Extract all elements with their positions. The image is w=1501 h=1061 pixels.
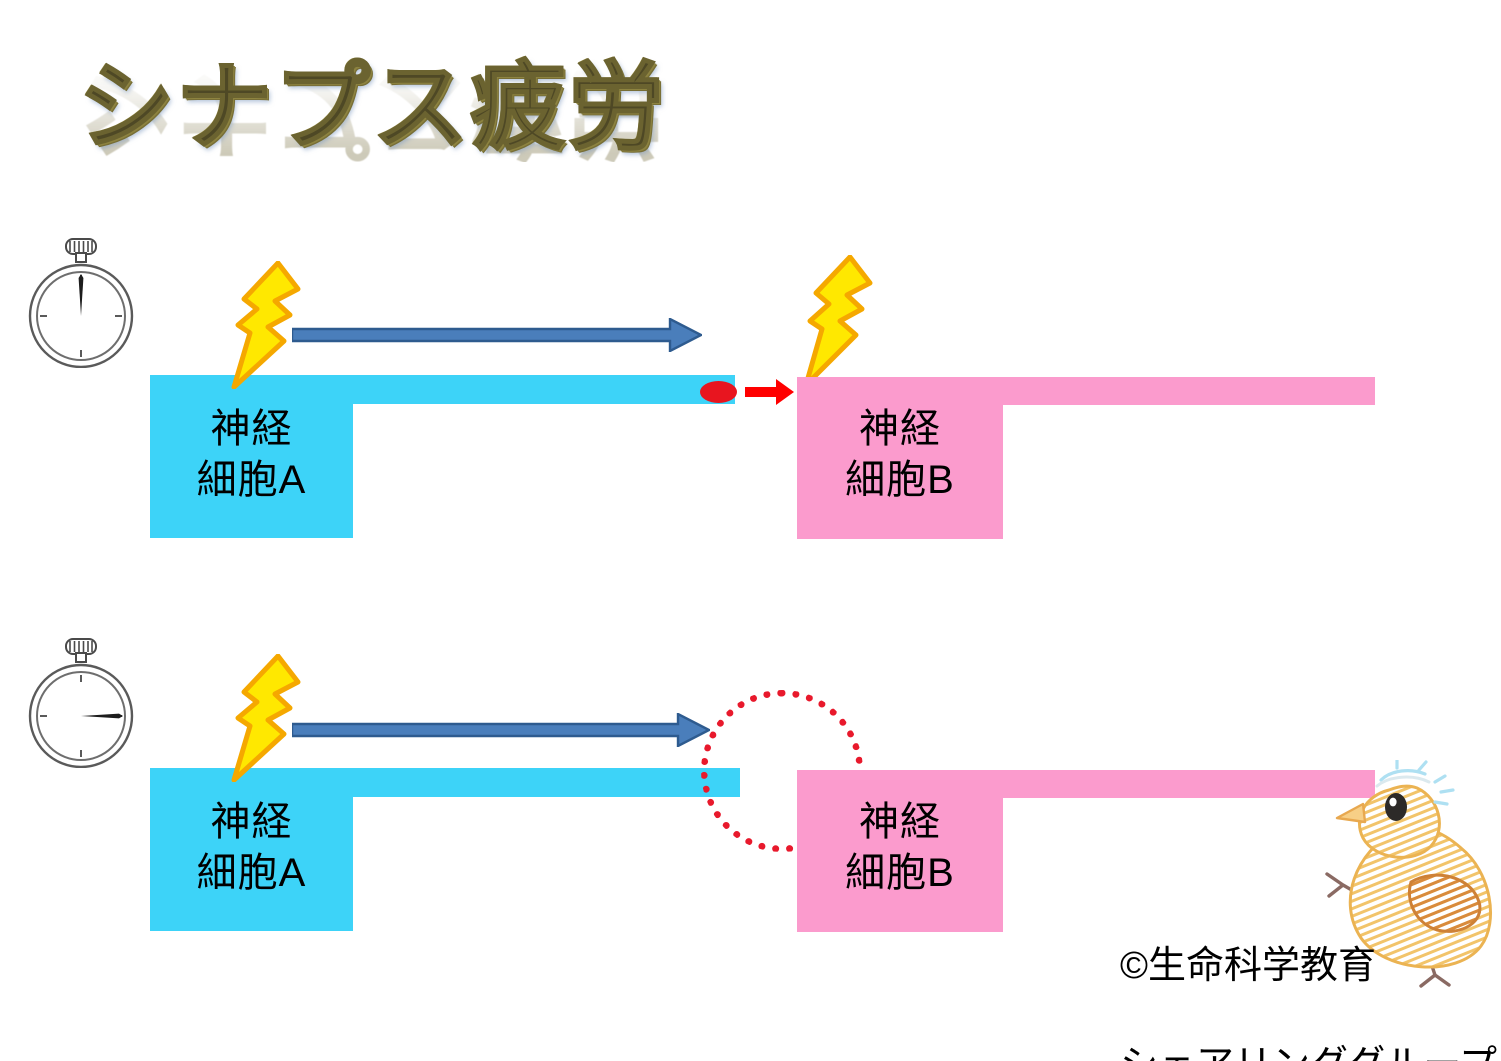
cell-a-label: 神経 細胞A (150, 797, 353, 899)
copyright-line-2: シェアリンググループ (1120, 1041, 1497, 1061)
lightning-bolt-icon (228, 654, 302, 782)
slide-canvas: シナプス疲労 シナプス疲労 (0, 0, 1501, 1061)
copyright-line-1: ©生命科学教育 (1120, 942, 1497, 991)
signal-direction-arrow (292, 713, 710, 747)
stopwatch-icon (22, 636, 140, 768)
copyright-notice: ©生命科学教育 シェアリンググループ (1120, 893, 1497, 1061)
cell-b-label: 神経 細胞B (797, 797, 1003, 899)
